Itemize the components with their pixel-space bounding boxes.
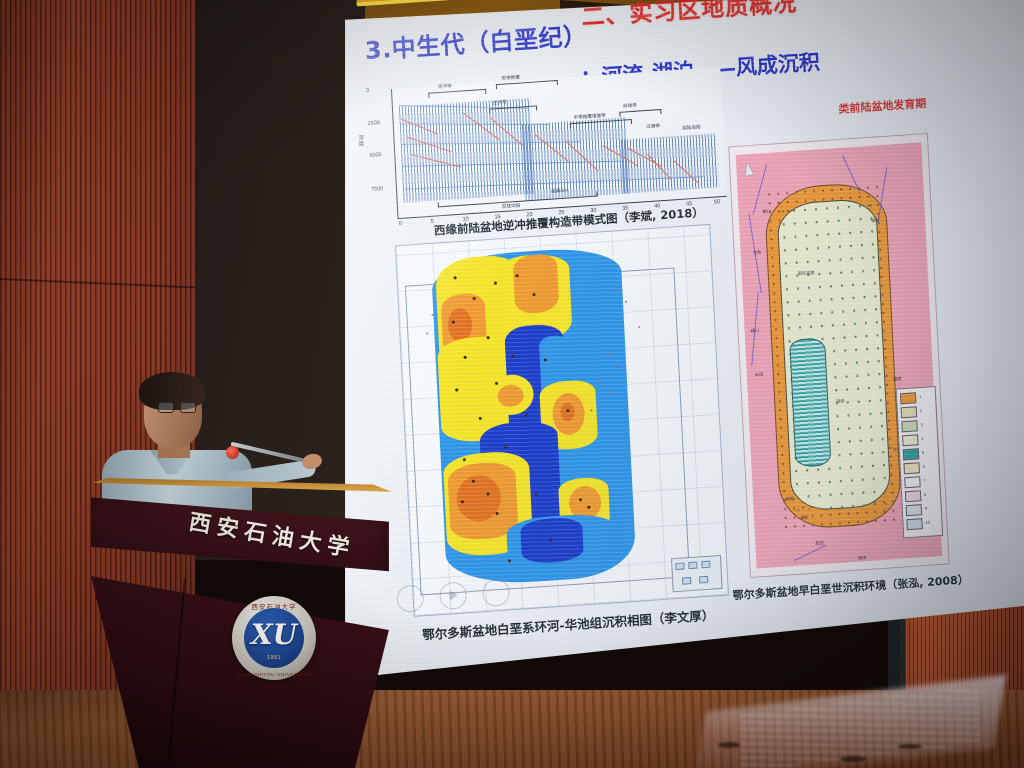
zone-bracket xyxy=(619,109,661,117)
x-axis-label: 距离/km xyxy=(551,188,568,195)
previous-slide-button[interactable] xyxy=(396,584,424,613)
floor-mark xyxy=(718,742,740,748)
zone-label: 过渡带 xyxy=(646,123,660,130)
city-label: 榆林 xyxy=(871,217,880,224)
city-label: 乌海 xyxy=(753,250,762,257)
slide-side-note: 类前陆盆地发育期 xyxy=(838,89,1018,117)
floor-mark xyxy=(898,744,922,749)
eyeglasses-icon xyxy=(158,402,198,413)
x-tick: 0 xyxy=(399,221,402,227)
play-slide-button[interactable] xyxy=(439,581,467,610)
city-label: 吴起 xyxy=(785,496,794,503)
lake-zone xyxy=(789,337,831,467)
presentation-slide: 二、实习区地质概况 3.中生代（白垩纪） ：河流-湖泊——风成沉积 类前陆盆地发… xyxy=(348,0,1024,651)
next-slide-button[interactable] xyxy=(482,578,510,607)
y-tick: 7500 xyxy=(371,186,384,193)
microphone-head xyxy=(226,446,239,459)
y-tick: 2500 xyxy=(368,120,381,127)
city-label: 鄂托克旗 xyxy=(798,270,815,277)
cross-section-figure: 深度 0 2500 5000 7500 xyxy=(391,67,727,219)
environment-map: 银川 乌海 鄂托克旗 铜川 延安 庆阳 西安 榆林 吴起 定边 华亭 镇原 太原… xyxy=(728,133,949,578)
lectern: 西安石油大学 西安石油大学 XI'AN SHIYOU UNIVERSITY XU… xyxy=(80,478,392,768)
city-label: 铜川 xyxy=(750,328,759,335)
city-label: 银川 xyxy=(762,209,771,216)
university-logo: 西安石油大学 XI'AN SHIYOU UNIVERSITY XU 1951 xyxy=(232,596,316,680)
zone-label: 前陆坳陷 xyxy=(682,124,701,131)
zone-label: 根带推覆 xyxy=(501,75,520,82)
lecture-hall-photo: 二、实习区地质概况 3.中生代（白垩纪） ：河流-湖泊——风成沉积 类前陆盆地发… xyxy=(0,0,1024,768)
logo-founding-year: 1951 xyxy=(244,655,304,661)
logo-english-arc-text: XI'AN SHIYOU UNIVERSITY xyxy=(232,672,316,677)
floor-mark xyxy=(840,756,866,762)
zone-label: 前缘带 xyxy=(623,103,637,110)
city-label: 庆阳 xyxy=(755,372,764,379)
thrust-sheet xyxy=(522,117,630,200)
logo-inner-disc: XU 1951 xyxy=(244,608,304,668)
city-label: 定边 xyxy=(815,540,824,547)
logo-monogram: XU xyxy=(244,618,304,651)
lectern-body xyxy=(80,570,392,768)
zone-label: 逆冲带 xyxy=(438,83,452,90)
facies-map-legend xyxy=(671,555,723,592)
projection-screen: 二、实习区地质概况 3.中生代（白垩纪） ：河流-湖泊——风成沉积 类前陆盆地发… xyxy=(338,0,1024,700)
facies-map xyxy=(395,224,729,617)
play-icon xyxy=(449,590,457,601)
zone-label: 逆冲带 xyxy=(493,99,507,106)
city-label: 镇原 xyxy=(893,376,902,383)
cross-section-y-label: 深度 xyxy=(358,135,369,148)
y-tick: 5000 xyxy=(369,152,382,159)
zone-bracket xyxy=(428,89,486,98)
environment-map-legend: 1 2 3 4 5 6 7 8 9 10 xyxy=(896,386,943,539)
bottom-zone-label: 前陆坳陷 xyxy=(502,203,521,210)
city-label: 延安 xyxy=(836,398,845,405)
city-label: 华亭 xyxy=(800,515,809,522)
city-label: 西安 xyxy=(858,555,867,562)
y-tick: 0 xyxy=(366,88,369,94)
